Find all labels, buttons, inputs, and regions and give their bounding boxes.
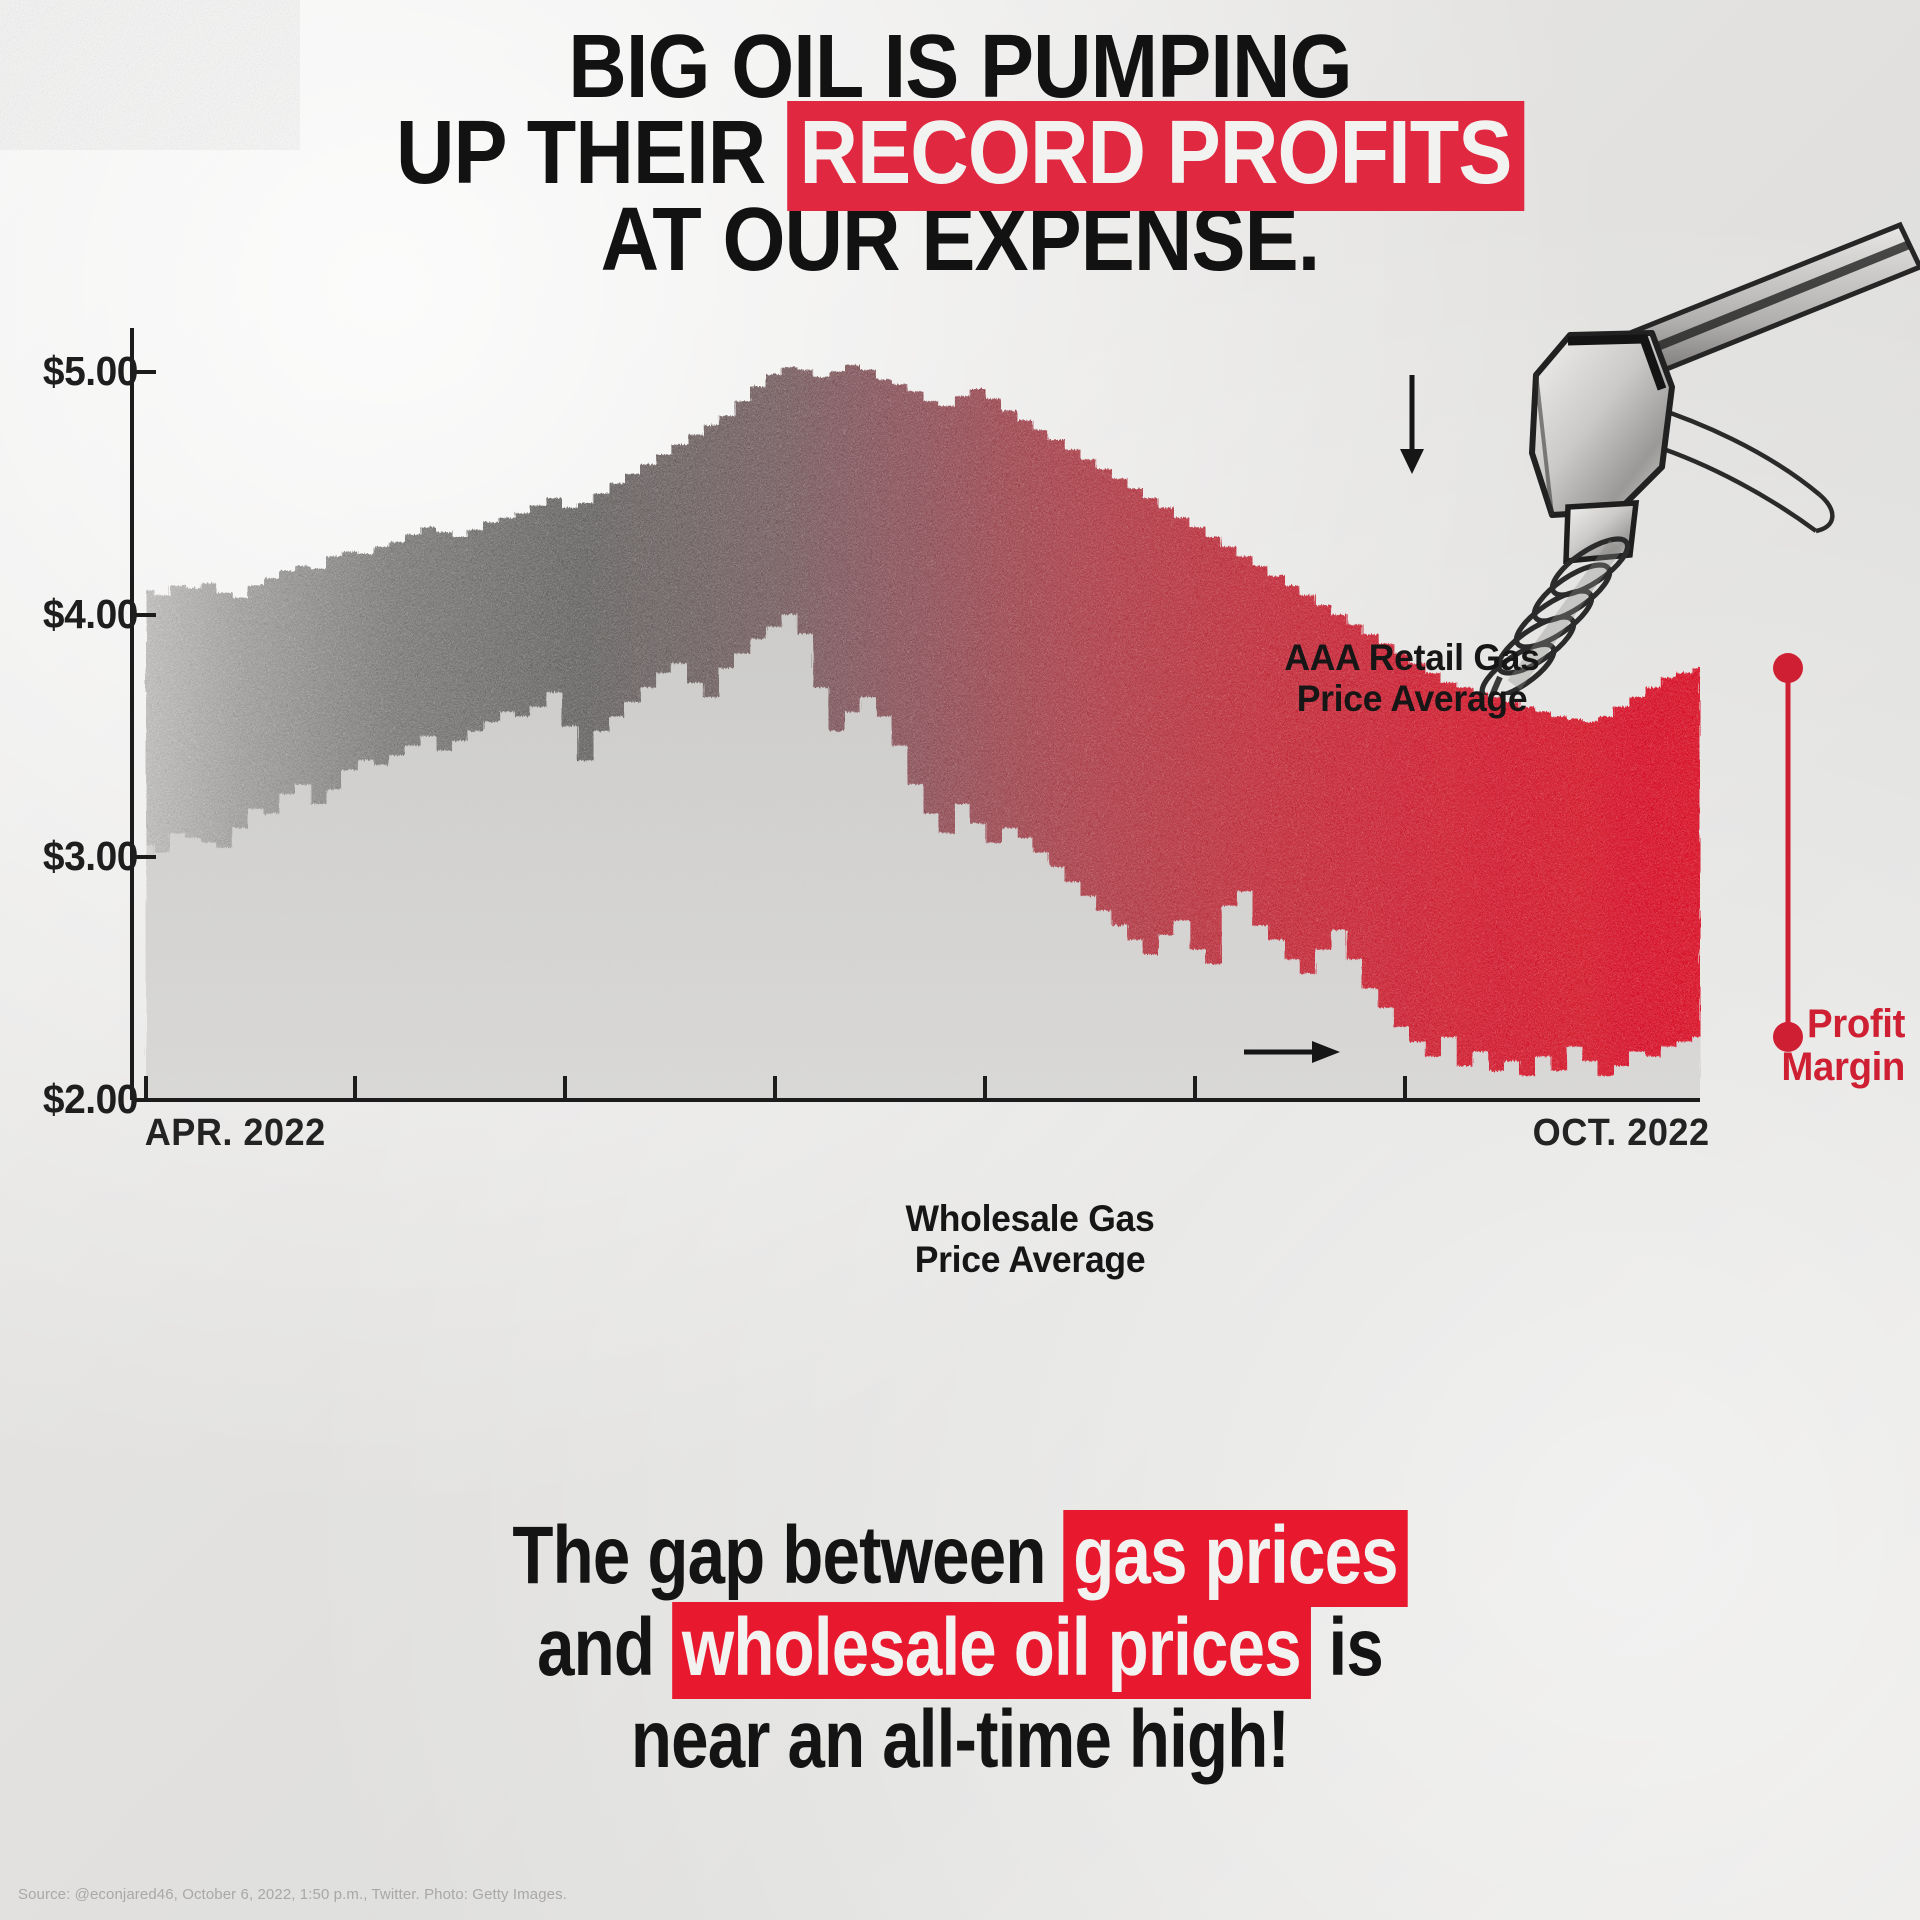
caption-highlight-gas-prices: gas prices [1063,1510,1407,1607]
annotation-profit-margin: Profit Margin [1727,1003,1905,1089]
source-credit: Source: @econjared46, October 6, 2022, 1… [18,1886,567,1903]
caption: The gap between gas prices and wholesale… [173,1510,1747,1785]
headline-line-1: BIG OIL IS PUMPING [96,24,1824,110]
y-tick-label-4: $4.00 [0,591,138,638]
headline-line-2: UP THEIR RECORD PROFITS [96,110,1824,196]
profit-margin-line-1: Profit [1727,1003,1905,1046]
annotation-wholesale-line-1: Wholesale Gas [886,1198,1174,1239]
y-tick-label-2: $2.00 [0,1076,138,1123]
caption-line-1: The gap between gas prices [173,1510,1747,1602]
caption-line-3: near an all-time high! [173,1694,1747,1786]
caption-line-2-plain: and [537,1602,672,1693]
annotation-wholesale-gas: Wholesale Gas Price Average [886,1198,1174,1281]
profit-margin-bracket [1773,653,1803,1052]
x-tick-label-start: APR. 2022 [145,1112,326,1155]
headline: BIG OIL IS PUMPING UP THEIR RECORD PROFI… [96,24,1824,283]
caption-line-1-plain: The gap between [512,1510,1063,1601]
y-tick-label-3: $3.00 [0,833,138,880]
annotation-aaa-line-2: Price Average [1268,678,1556,719]
caption-highlight-wholesale-oil-prices: wholesale oil prices [672,1602,1311,1699]
headline-line-2-plain: UP THEIR [396,103,787,203]
caption-line-2-post: is [1311,1602,1383,1693]
profit-margin-line-2: Margin [1727,1046,1905,1089]
annotation-wholesale-line-2: Price Average [886,1239,1174,1280]
y-tick-label-5: $5.00 [0,348,138,395]
gas-pump-nozzle-icon [1300,215,1920,695]
x-tick-label-end: OCT. 2022 [1533,1112,1710,1155]
annotation-aaa-line-1: AAA Retail Gas [1268,637,1556,678]
caption-line-2: and wholesale oil prices is [173,1602,1747,1694]
annotation-aaa-retail-gas: AAA Retail Gas Price Average [1268,637,1556,720]
headline-highlight-record-profits: RECORD PROFITS [787,101,1524,211]
